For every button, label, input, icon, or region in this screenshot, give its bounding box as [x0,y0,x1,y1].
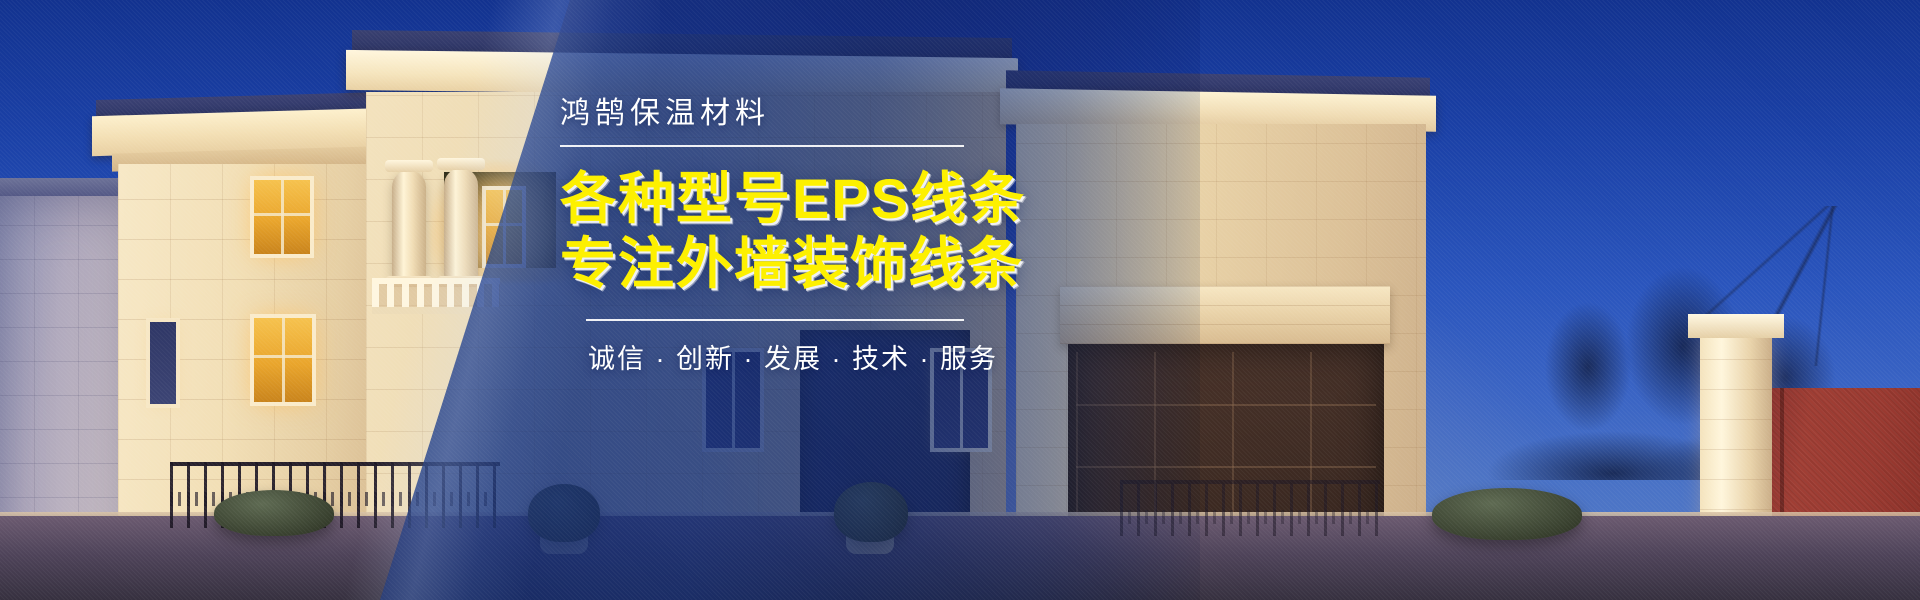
window-mullion-horizontal [254,355,312,358]
window-mullion-vertical [281,180,284,254]
divider-above-headline [560,145,964,147]
headline-line-2: 专注外墙装饰线条 [560,232,1030,297]
window-left-mid [254,318,312,402]
window-left-upper [254,180,310,254]
column-left-2 [444,168,478,278]
banner-copy: 鸿鹄保温材料 各种型号EPS线条 专注外墙装饰线条 诚信 · 创新 · 发展 ·… [560,96,1030,376]
column-left-1 [392,170,426,278]
headline-line-1: 各种型号EPS线条 [560,167,1026,230]
tagline: 诚信 · 创新 · 发展 · 技术 · 服务 [588,337,1030,376]
headline: 各种型号EPS线条 专注外墙装饰线条 [560,167,1030,297]
window-left-narrow [150,322,176,404]
window-mullion-vertical [282,318,285,402]
divider-below-headline [586,319,964,321]
shrub-foreground-left [214,490,334,536]
brand-name: 鸿鹄保温材料 [560,96,1030,132]
window-mullion-horizontal [254,213,310,216]
hero-banner: 鸿鹄保温材料 各种型号EPS线条 专注外墙装饰线条 诚信 · 创新 · 发展 ·… [0,0,1920,600]
shrub-foreground-right [1432,488,1582,540]
